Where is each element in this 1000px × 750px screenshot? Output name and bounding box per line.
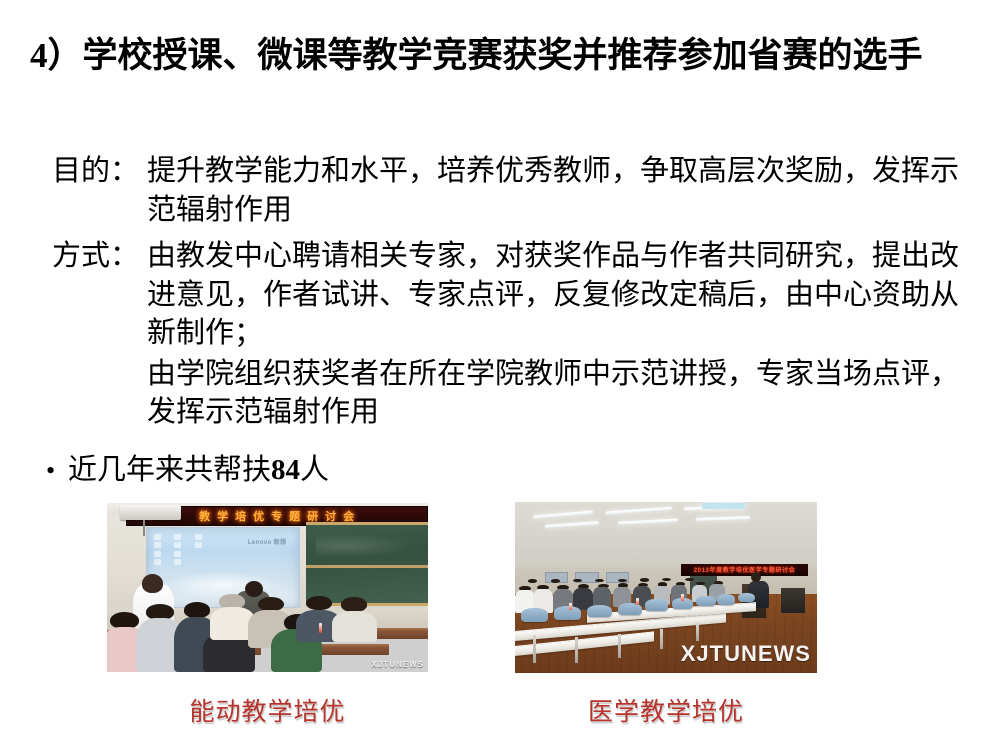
desktop-icon [174, 542, 181, 548]
audience-head [341, 597, 367, 612]
led-char: 题 [289, 508, 301, 524]
desktop-icon [154, 559, 161, 565]
desktop-icon [174, 534, 181, 540]
desktop-icon [154, 534, 161, 540]
desk-leg [533, 635, 536, 662]
photo-right-scene: 2013年度教学培优医学专题研讨会 [515, 502, 817, 673]
ceiling-light [533, 510, 593, 518]
hall-chair [717, 594, 735, 604]
photo-right-lecture-hall: 2013年度教学培优医学专题研讨会 [515, 502, 817, 673]
led-char: 优 [253, 508, 265, 524]
led-char: 教 [199, 508, 211, 524]
caption-right-photo: 医学教学培优 [515, 692, 817, 728]
water-bottle [569, 603, 572, 610]
desktop-icon [154, 551, 161, 557]
watermark-xjtunews: XJTUNEWS [372, 660, 424, 669]
led-char: 专 [271, 508, 283, 524]
attendee-head [528, 579, 537, 583]
attendee-head [551, 579, 560, 583]
desktop-icon [174, 551, 181, 557]
bullet-text-before: 近几年来共帮扶 [68, 454, 271, 486]
hall-chair [521, 608, 548, 622]
bullet-line: •近几年来共帮扶84人 [46, 452, 329, 490]
attendee-head [573, 579, 582, 582]
ceiling-light [696, 516, 750, 521]
desktop-icons-group [153, 532, 217, 568]
hall-chair [554, 606, 581, 620]
hall-chair [738, 593, 755, 602]
audience-head [258, 597, 284, 612]
desktop-icon [195, 542, 202, 548]
water-bottle [636, 598, 639, 605]
desk-leg [618, 634, 621, 658]
desk-leg [575, 637, 578, 663]
desktop-icon [195, 534, 202, 540]
slide-canvas: 4）学校授课、微课等教学竞赛获奖并推荐参加省赛的选手 目的： 提升教学能力和水平… [0, 0, 1000, 750]
attendee-head [662, 578, 671, 581]
hall-chair [696, 596, 716, 606]
caption-left-photo: 能动教学培优 [107, 692, 428, 728]
led-char: 培 [235, 508, 247, 524]
hall-led-banner: 2013年度教学培优医学专题研讨会 [681, 564, 808, 576]
screen-brand-text: Lenovo 联想 [248, 537, 287, 546]
presenter-left-head [142, 574, 163, 593]
paragraph-method: 方式： 由教发中心聘请相关专家，对获奖作品与作者共同研究，提出改进意见，作者试讲… [30, 237, 980, 353]
photo-left-seminar: 17时48分38秒 教 学 培 优 专 题 研 讨 会 [107, 503, 428, 672]
attendee-head [595, 579, 604, 582]
hall-chair [587, 605, 611, 618]
bullet-marker-icon: • [46, 454, 68, 488]
bullet-count: 84 [271, 454, 300, 486]
watermark-xjtunews: XJTUNEWS [681, 641, 811, 667]
audience-head [306, 596, 332, 611]
paragraph-purpose: 目的： 提升教学能力和水平，培养优秀教师，争取高层次奖励，发挥示范辐射作用 [30, 152, 980, 229]
method-label: 方式： [52, 237, 162, 276]
bullet-text-after: 人 [300, 454, 329, 486]
desktop-icon [174, 559, 181, 565]
method-text: 由教发中心聘请相关专家，对获奖作品与作者共同研究，提出改进意见，作者试讲、专家点… [147, 237, 980, 353]
page-title: 4）学校授课、微课等教学竞赛获奖并推荐参加省赛的选手 [30, 34, 970, 77]
attendee-head [685, 578, 694, 581]
attendee-head [618, 579, 627, 582]
ceiling-projector-icon [120, 505, 181, 520]
chalkboard-smudge [316, 534, 414, 558]
audience-body [332, 611, 377, 642]
ceiling-light [618, 518, 678, 524]
method-extra-text: 由学院组织获奖者在所在学院教师中示范讲授，专家当场点评，发挥示范辐射作用 [30, 355, 980, 432]
water-bottle [319, 623, 322, 633]
purpose-label: 目的： [52, 152, 162, 191]
desktop-icon [154, 542, 161, 548]
body-text-block: 目的： 提升教学能力和水平，培养优秀教师，争取高层次奖励，发挥示范辐射作用 方式… [30, 152, 980, 432]
audience-head [184, 602, 210, 617]
hall-banner-text: 2013年度教学培优医学专题研讨会 [694, 565, 796, 574]
hall-ceiling [515, 502, 817, 570]
desk-leg [660, 629, 663, 650]
purpose-text: 提升教学能力和水平，培养优秀教师，争取高层次奖励，发挥示范辐射作用 [147, 152, 980, 229]
desk-leg [696, 623, 699, 640]
ceiling-light [545, 521, 599, 528]
led-char: 学 [217, 508, 229, 524]
photo-left-scene: 17时48分38秒 教 学 培 优 专 题 研 讨 会 [107, 503, 428, 672]
hall-cabinet [781, 588, 805, 614]
attendee-head [640, 578, 649, 581]
ceiling-light [606, 507, 672, 515]
ceiling-light-panel [702, 503, 744, 509]
hall-chair [645, 599, 668, 611]
water-bottle [681, 594, 684, 601]
